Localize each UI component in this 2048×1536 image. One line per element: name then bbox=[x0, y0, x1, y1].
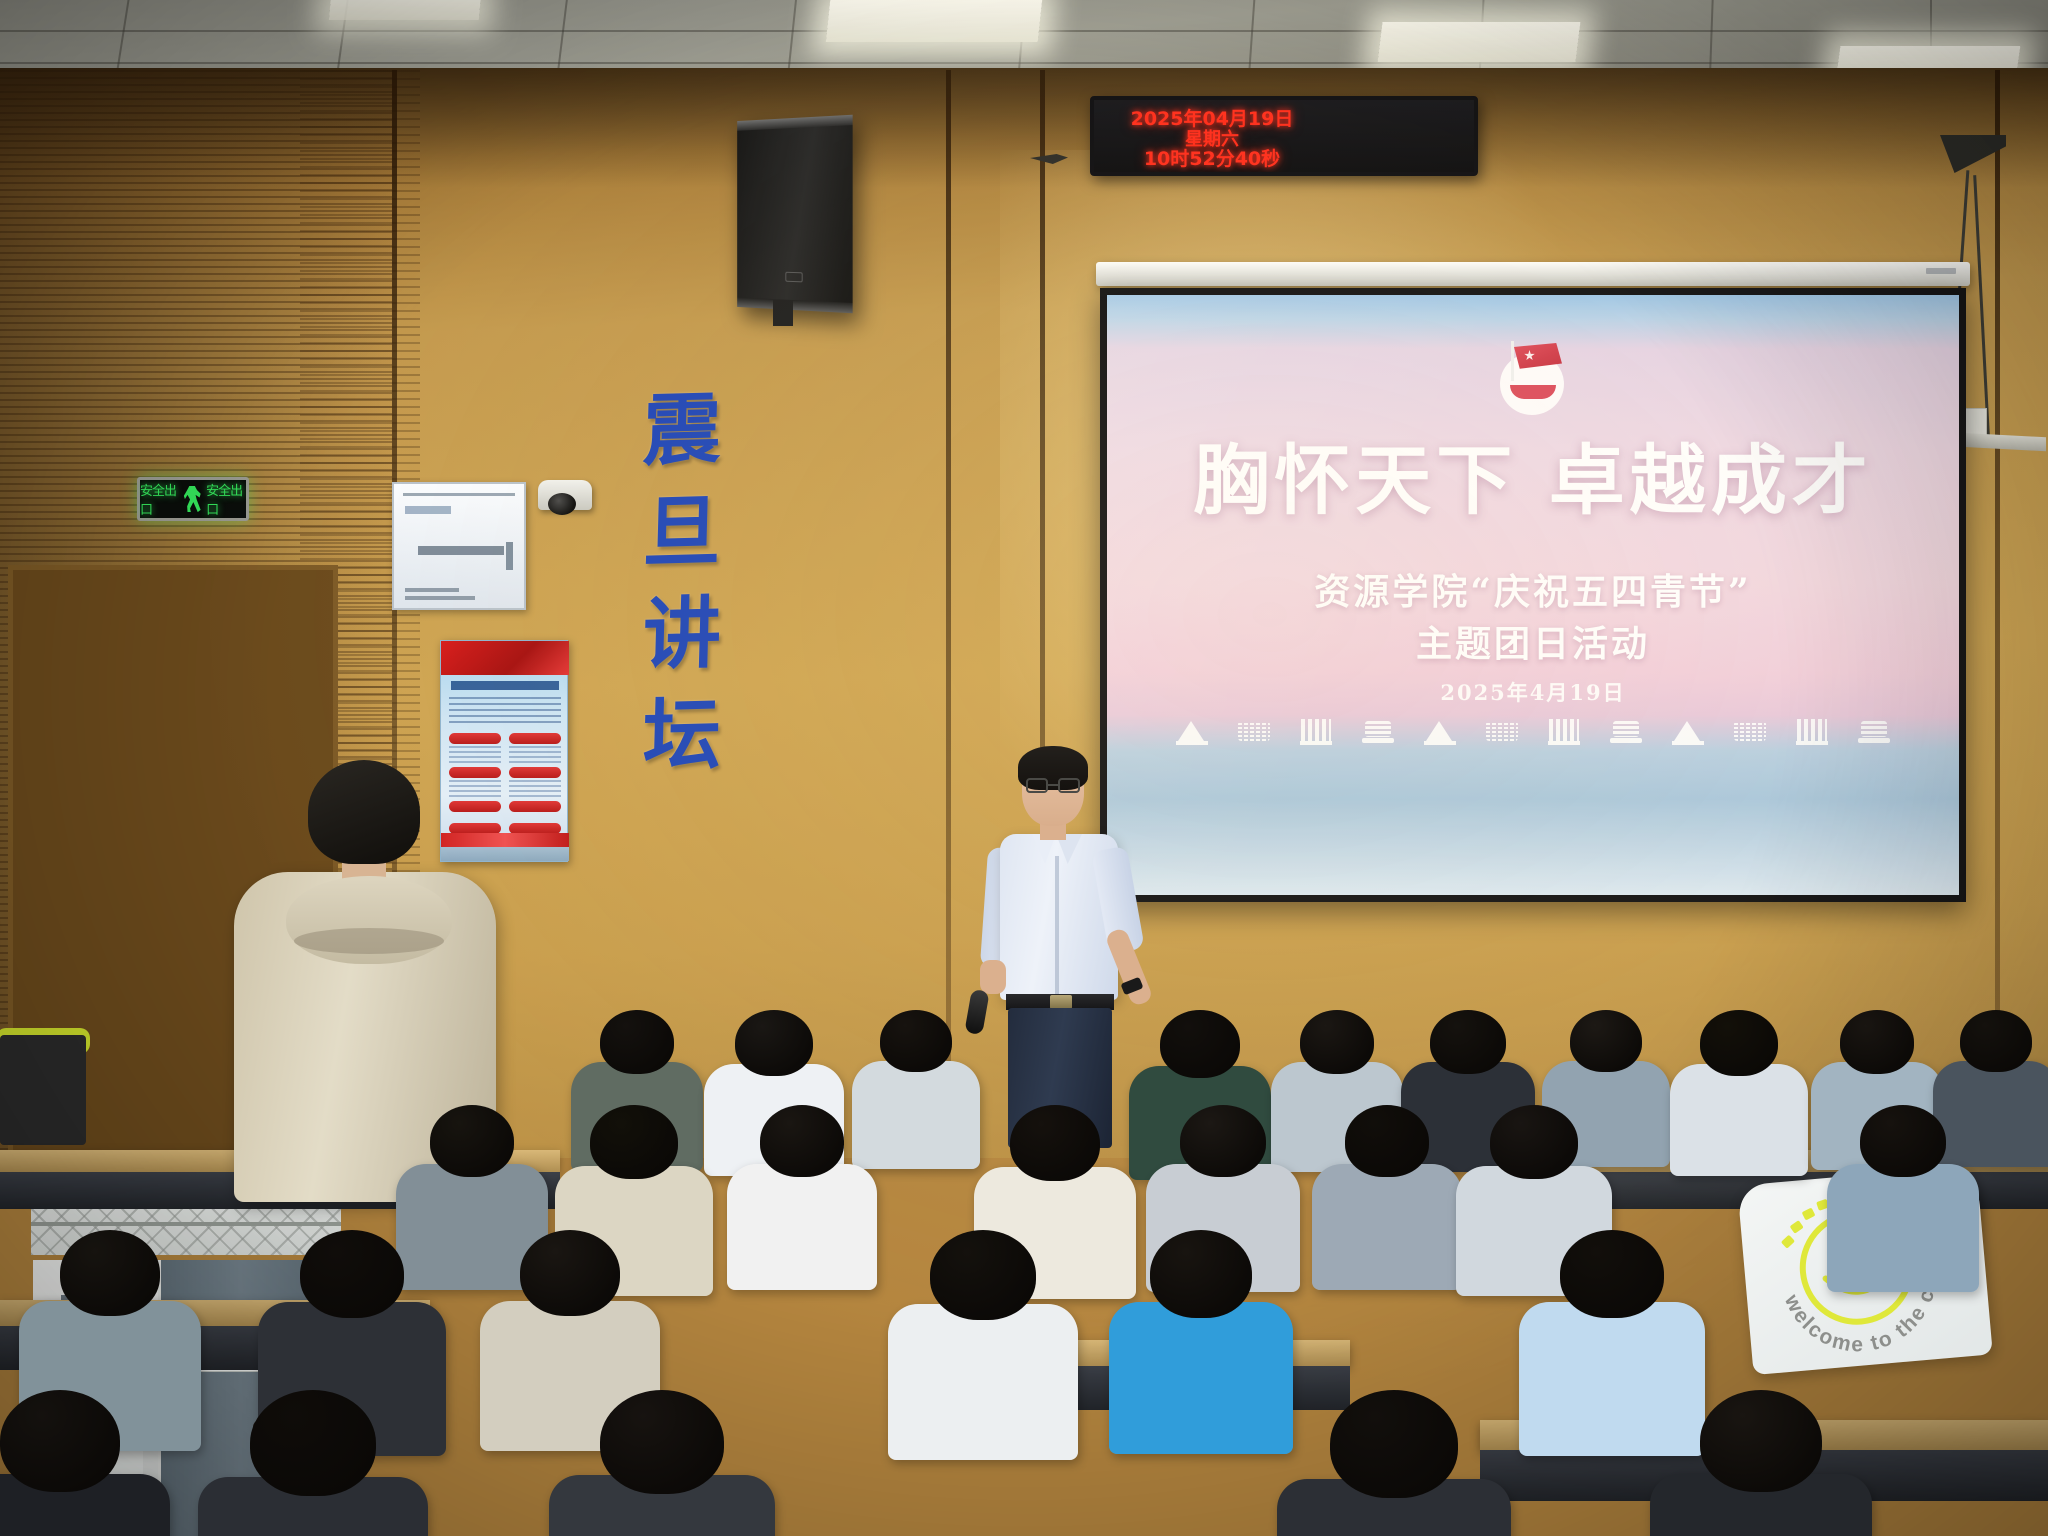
calligraphy-char-3: 讲 bbox=[642, 597, 722, 671]
chinese-flag-banner-icon bbox=[441, 641, 569, 675]
audience-member-head bbox=[600, 1010, 674, 1074]
led-clock-display: 2025年04月19日 星期六 10时52分40秒 bbox=[1090, 96, 1478, 176]
projector-screen-housing bbox=[1096, 262, 1970, 286]
exit-sign-right-label: 安全出口 bbox=[206, 480, 246, 518]
audience-member-head bbox=[1960, 1010, 2032, 1072]
wall-panel-seam bbox=[946, 70, 951, 1160]
audience-member-head bbox=[300, 1230, 404, 1318]
led-date: 2025年04月19日 bbox=[1131, 110, 1294, 130]
audience-member-head bbox=[1570, 1010, 1642, 1072]
audience-member-torso bbox=[1933, 1061, 2048, 1167]
audience-member-head bbox=[1700, 1390, 1822, 1492]
wall-panel-seam bbox=[1995, 70, 2000, 1160]
audience-member-torso bbox=[1670, 1064, 1808, 1176]
led-weekday: 星期六 bbox=[1185, 131, 1239, 150]
running-man-icon bbox=[184, 486, 202, 512]
calligraphy-char-2: 旦 bbox=[642, 496, 722, 570]
audience-member-head bbox=[0, 1390, 120, 1492]
exit-sign-left-label: 安全出口 bbox=[140, 480, 180, 518]
screen-brand-label bbox=[1926, 268, 1956, 274]
audience-member-head bbox=[1560, 1230, 1664, 1318]
audience-member-head bbox=[250, 1390, 376, 1496]
audience-member-head bbox=[1300, 1010, 1374, 1074]
audience-member-head bbox=[735, 1010, 813, 1076]
audience-member-torso bbox=[1519, 1302, 1705, 1456]
ceiling-light-panel bbox=[1378, 22, 1581, 62]
ceiling-light-panel bbox=[329, 0, 481, 20]
speaker-mount-bracket bbox=[773, 300, 793, 326]
audience-member-torso bbox=[888, 1304, 1078, 1460]
wall-calligraphy-zhendan-jiangtan: 震 旦 讲 坛 bbox=[612, 395, 752, 772]
audience-member-head bbox=[1150, 1230, 1252, 1318]
calligraphy-char-1: 震 bbox=[642, 394, 722, 468]
audience-member-head bbox=[1840, 1010, 1914, 1074]
audience-member-head bbox=[1490, 1105, 1578, 1179]
dome-surveillance-camera-icon bbox=[538, 480, 592, 510]
audience-member-torso bbox=[852, 1061, 980, 1169]
audience-member-head bbox=[590, 1105, 678, 1179]
audience-member-torso bbox=[1109, 1302, 1293, 1454]
red-propaganda-poster bbox=[440, 640, 568, 862]
audience-member-head bbox=[1345, 1105, 1429, 1177]
audience-member-head bbox=[60, 1230, 160, 1316]
audience-member-head bbox=[760, 1105, 844, 1177]
audience-member-head bbox=[930, 1230, 1036, 1320]
trash-bin bbox=[0, 1035, 86, 1145]
eyeglasses-icon bbox=[1026, 778, 1080, 793]
student-hair bbox=[308, 760, 420, 864]
audience-member-head bbox=[1430, 1010, 1506, 1074]
audience-member-head bbox=[1180, 1105, 1266, 1177]
ceiling-light-panel bbox=[826, 0, 1042, 42]
audience-member-head bbox=[600, 1390, 724, 1494]
audience-member-head bbox=[1860, 1105, 1946, 1177]
white-notice-board bbox=[392, 482, 526, 610]
audience-member-torso bbox=[727, 1164, 877, 1290]
led-time: 10时52分40秒 bbox=[1144, 150, 1280, 170]
emergency-exit-sign: 安全出口 安全出口 bbox=[137, 477, 249, 521]
audience-member-head bbox=[1160, 1010, 1240, 1078]
screen-glare bbox=[1107, 295, 1959, 895]
lecture-hall-photo: 安全出口 安全出口 震 旦 讲 坛 bbox=[0, 0, 2048, 1536]
audience-member-head bbox=[1010, 1105, 1100, 1181]
wall-mounted-loudspeaker bbox=[737, 115, 852, 314]
presentation-slide: 胸怀天下 卓越成才 资源学院“庆祝五四青节” 主题团日活动 2025年4月19日 bbox=[1107, 295, 1959, 895]
audience-member-head bbox=[430, 1105, 514, 1177]
audience-member-head bbox=[880, 1010, 952, 1072]
audience-member-torso bbox=[1312, 1164, 1462, 1290]
audience-member-head bbox=[520, 1230, 620, 1316]
calligraphy-char-4: 坛 bbox=[642, 699, 722, 773]
audience-member-head bbox=[1700, 1010, 1778, 1076]
audience-member-torso bbox=[1827, 1164, 1979, 1292]
audience-member-head bbox=[1330, 1390, 1458, 1498]
projection-screen: 胸怀天下 卓越成才 资源学院“庆祝五四青节” 主题团日活动 2025年4月19日 bbox=[1100, 288, 1966, 902]
camera-lens bbox=[548, 493, 576, 515]
transom-divider-bar bbox=[31, 1222, 341, 1226]
